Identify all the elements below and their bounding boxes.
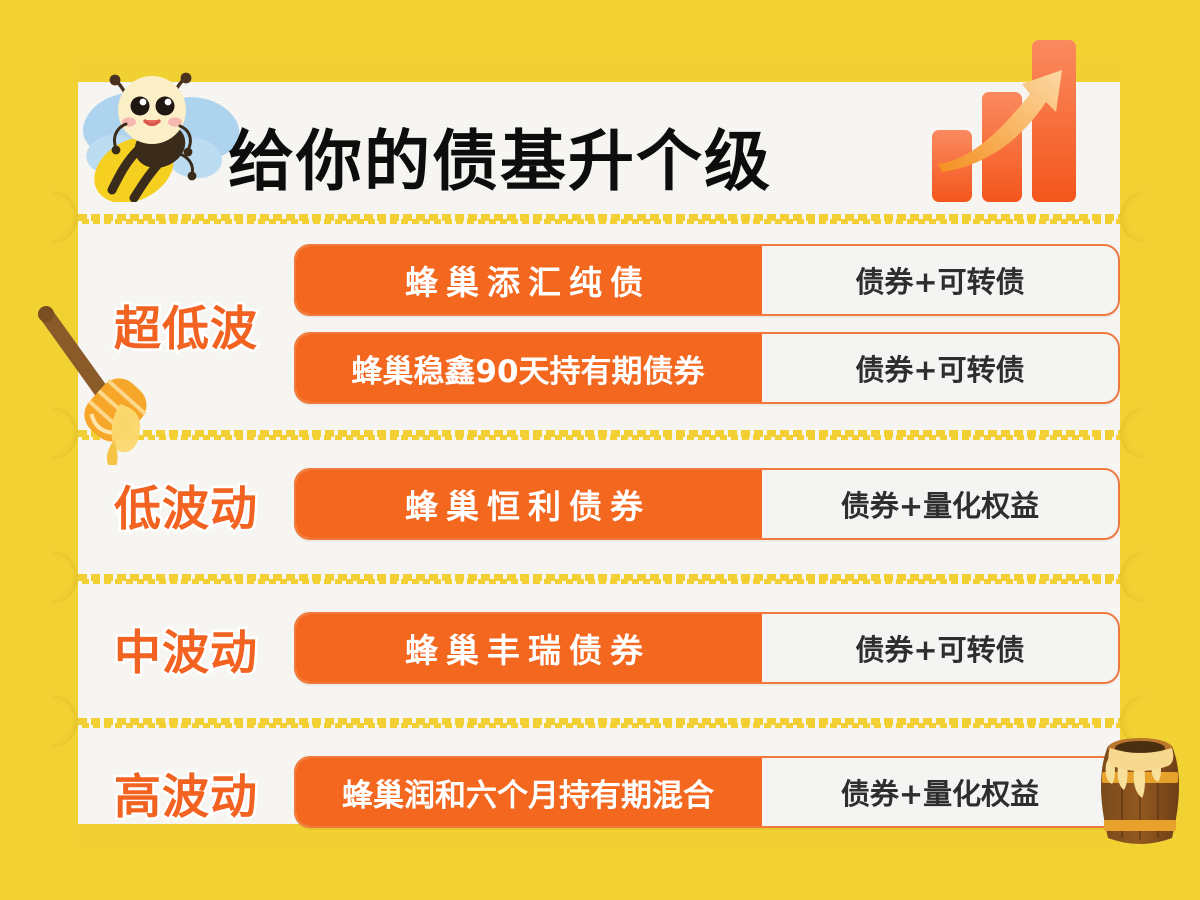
notch-left-4: [52, 695, 78, 747]
honey-dipper-icon: [28, 300, 178, 465]
strategy-tag: 债券+量化权益: [762, 758, 1118, 826]
divider-1: [78, 210, 1120, 224]
poster-content: 给你的债基升个级 超低波 蜂巢添汇: [78, 58, 1120, 848]
notch-right-2: [1120, 407, 1146, 459]
fund-name: 蜂巢丰瑞债券: [294, 612, 762, 684]
notch-left-3: [52, 551, 78, 603]
fund-name: 蜂巢添汇纯债: [294, 244, 762, 316]
category-label: 高波动: [78, 758, 294, 827]
category-label: 中波动: [78, 614, 294, 683]
fund-name: 蜂巢润和六个月持有期混合: [294, 756, 762, 828]
fund-row[interactable]: 蜂巢恒利债券 债券+量化权益: [294, 468, 1120, 540]
group-high-volatility: 高波动 蜂巢润和六个月持有期混合 债券+量化权益: [78, 728, 1120, 828]
strategy-tag: 债券+可转债: [762, 614, 1118, 682]
honey-barrel-icon: [1084, 726, 1196, 848]
strategy-tag: 债券+可转债: [762, 246, 1118, 314]
fund-row[interactable]: 蜂巢稳鑫90天持有期债券 债券+可转债: [294, 332, 1120, 404]
divider-3: [78, 570, 1120, 584]
category-label: 低波动: [78, 470, 294, 539]
fund-row[interactable]: 蜂巢润和六个月持有期混合 债券+量化权益: [294, 756, 1120, 828]
notch-right-3: [1120, 551, 1146, 603]
fund-name: 蜂巢稳鑫90天持有期债券: [294, 332, 762, 404]
strategy-tag: 债券+可转债: [762, 334, 1118, 402]
page-title: 给你的债基升个级: [228, 108, 772, 204]
fund-name: 蜂巢恒利债券: [294, 468, 762, 540]
group-medium-volatility: 中波动 蜂巢丰瑞债券 债券+可转债: [78, 584, 1120, 714]
divider-4: [78, 714, 1120, 728]
group-ultra-low-volatility: 超低波 蜂巢添汇纯债 债券+可转债 蜂巢稳鑫90天持有期债券 债券+可转债: [78, 224, 1120, 426]
growth-bar-chart-icon: [926, 36, 1098, 204]
group-low-volatility: 低波动 蜂巢恒利债券 债券+量化权益: [78, 440, 1120, 570]
divider-2: [78, 426, 1120, 440]
strategy-tag: 债券+量化权益: [762, 470, 1118, 538]
fund-row[interactable]: 蜂巢添汇纯债 债券+可转债: [294, 244, 1120, 316]
bee-mascot-icon: [68, 62, 248, 202]
notch-right-1: [1120, 191, 1146, 243]
fund-row[interactable]: 蜂巢丰瑞债券 债券+可转债: [294, 612, 1120, 684]
poster-header: 给你的债基升个级: [78, 58, 1120, 210]
